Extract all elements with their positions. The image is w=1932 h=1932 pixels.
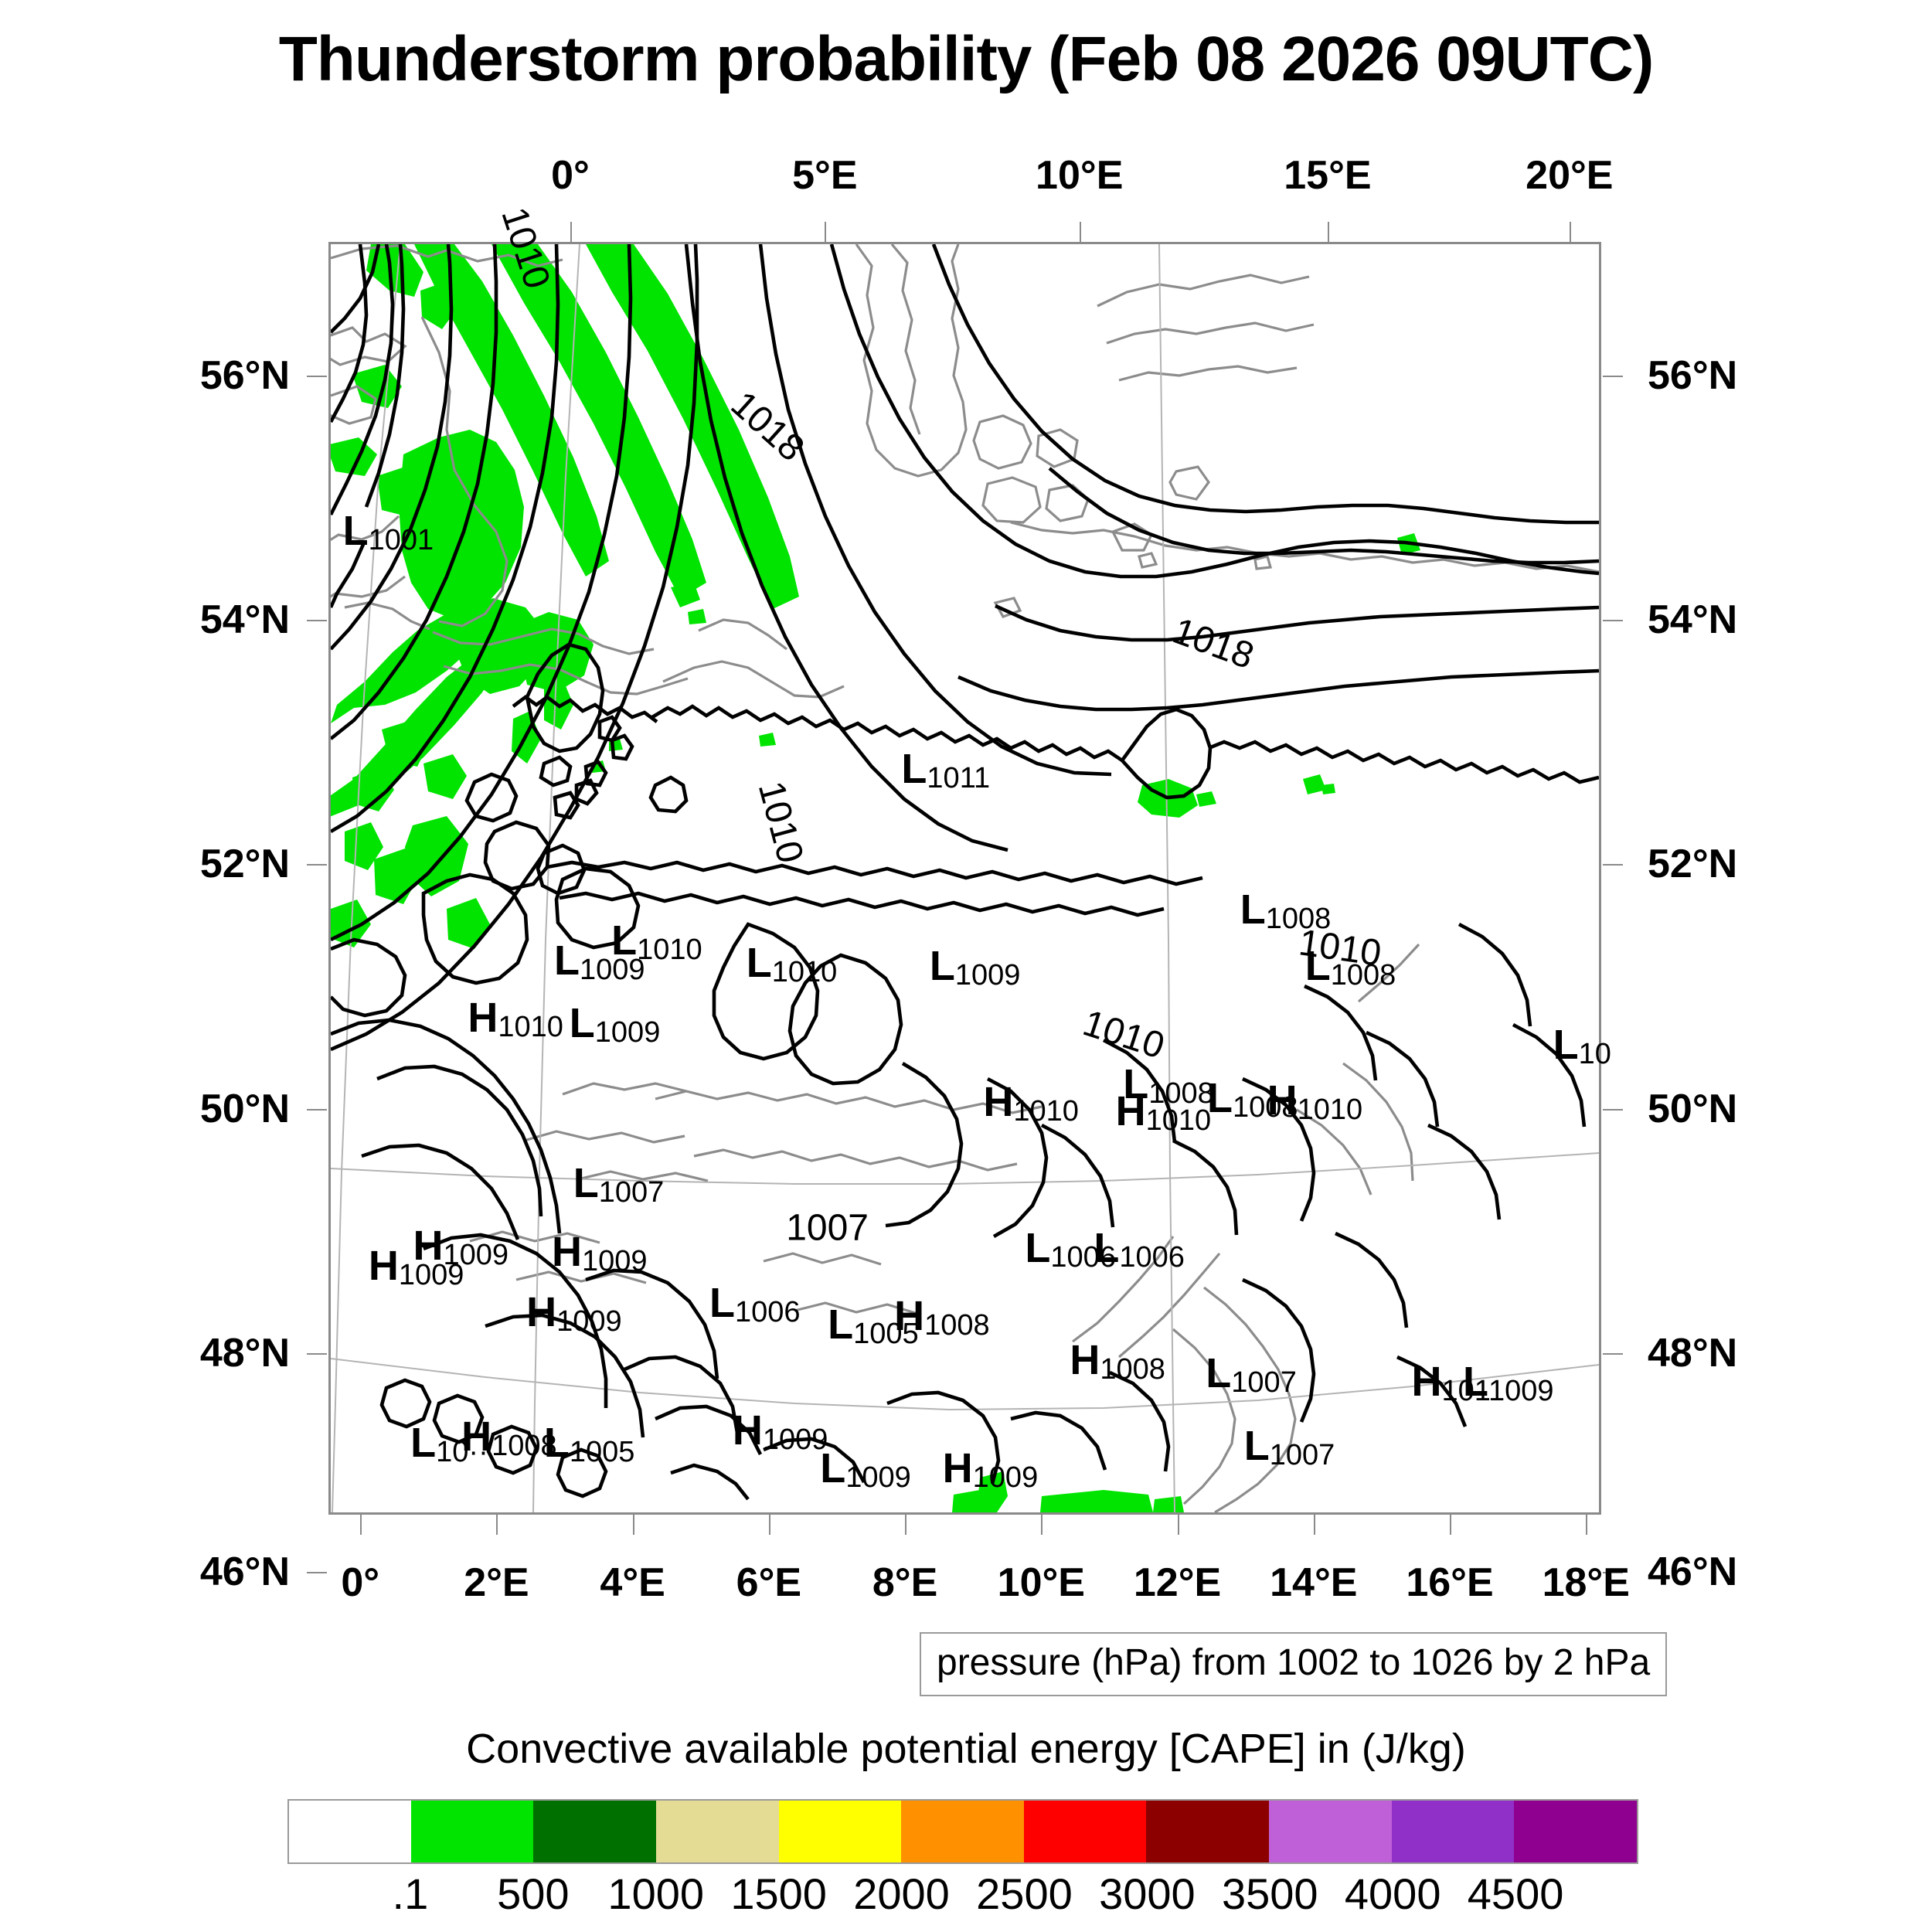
colorbar-cell-6[interactable] xyxy=(1024,1801,1147,1862)
axis-label-top-0: 0° xyxy=(551,152,590,199)
axis-label-bottom-9: 18°E xyxy=(1543,1560,1630,1606)
pressure-center-h-1008-25: H1008 xyxy=(894,1295,990,1340)
pressure-center-l-1009-29: L1009 xyxy=(1463,1361,1554,1406)
axis-label-right-0: 56°N xyxy=(1648,352,1737,399)
pressure-center-value: 1010 xyxy=(1013,1095,1079,1128)
pressure-center-l-1007-16: L1007 xyxy=(573,1162,665,1207)
pressure-center-value: 1007 xyxy=(1270,1439,1335,1471)
pressure-center-value: 10 xyxy=(1579,1038,1611,1070)
axis-label-right-2: 52°N xyxy=(1648,841,1737,887)
axis-label-bottom-4: 8°E xyxy=(872,1560,937,1606)
pressure-center-l-1009-34: L1009 xyxy=(820,1447,911,1492)
pressure-center-type: H xyxy=(943,1445,973,1492)
colorbar-tick-3500: 3500 xyxy=(1222,1869,1318,1919)
axis-label-bottom-2: 4°E xyxy=(600,1560,665,1606)
pressure-center-value: 1009 xyxy=(845,1461,911,1494)
pressure-center-h-1008-31: H1008 xyxy=(461,1416,557,1461)
page-title: Thunderstorm probability (Feb 08 2026 09… xyxy=(0,23,1932,96)
pressure-center-type: L xyxy=(820,1445,845,1492)
axis-tick xyxy=(1570,222,1571,242)
axis-tick xyxy=(307,1109,327,1111)
axis-label-top-1: 5°E xyxy=(792,152,857,199)
pressure-center-h-1009-33: H1009 xyxy=(733,1410,828,1454)
pressure-center-type: L xyxy=(343,508,369,554)
pressure-center-h-1009-19: H1009 xyxy=(552,1231,648,1276)
pressure-center-value: 1008 xyxy=(1100,1353,1165,1386)
pressure-center-type: L xyxy=(930,943,955,989)
pressure-center-type: L xyxy=(573,1160,599,1206)
colorbar-cell-7[interactable] xyxy=(1146,1801,1269,1862)
axis-tick xyxy=(1603,1109,1623,1111)
pressure-center-type: L xyxy=(828,1301,853,1348)
pressure-center-type: H xyxy=(461,1413,492,1460)
pressure-center-h-1009-18: H1009 xyxy=(369,1245,464,1290)
pressure-center-l-1007-27: L1007 xyxy=(1206,1352,1297,1397)
axis-tick xyxy=(360,1515,362,1535)
axis-label-top-4: 20°E xyxy=(1526,152,1613,199)
pressure-center-type: L xyxy=(1244,1423,1270,1469)
axis-label-top-3: 15°E xyxy=(1284,152,1371,199)
pressure-center-h-1010-12: H1010 xyxy=(983,1081,1079,1126)
pressure-center-l-1010-5: L1010 xyxy=(611,920,702,964)
pressure-center-type: L xyxy=(1240,886,1266,933)
pressure-center-value: 1009 xyxy=(595,1016,661,1049)
pressure-center-value: 1009 xyxy=(973,1461,1039,1494)
axis-label-left-3: 50°N xyxy=(97,1086,290,1132)
pressure-center-value: 1010 xyxy=(498,1011,563,1043)
pressure-center-l-1006-23: L1006 xyxy=(709,1282,801,1327)
pressure-center-type: H xyxy=(733,1407,763,1454)
pressure-center-value: 1007 xyxy=(599,1176,665,1209)
contour-label-1007-6: 1007 xyxy=(786,1207,869,1250)
pressure-center-value: 1001 xyxy=(369,524,434,556)
colorbar-cell-5[interactable] xyxy=(901,1801,1024,1862)
pressure-center-type: L xyxy=(1305,943,1331,989)
pressure-center-type: H xyxy=(552,1229,582,1275)
axis-tick xyxy=(496,1515,498,1535)
pressure-center-h-1010-13: H1010 xyxy=(1116,1090,1212,1135)
pressure-center-type: L xyxy=(410,1420,436,1466)
pressure-center-h-1010-14: H1010 xyxy=(1267,1080,1363,1124)
axis-tick xyxy=(307,620,327,621)
colorbar-tick-2500: 2500 xyxy=(976,1869,1073,1919)
pressure-center-value: 1009 xyxy=(556,1305,622,1338)
axis-label-left-4: 48°N xyxy=(97,1330,290,1376)
colorbar-tick-labels: .150010001500200025003000350040004500 xyxy=(287,1869,1638,1930)
pressure-center-l-1007-36: L1007 xyxy=(1244,1425,1335,1470)
pressure-center-type: H xyxy=(526,1289,556,1335)
pressure-center-l-10-15: L10 xyxy=(1553,1024,1611,1069)
pressure-center-type: L xyxy=(1206,1350,1231,1396)
axis-tick xyxy=(1603,1353,1623,1355)
axis-tick xyxy=(307,864,327,866)
pressure-center-h-1009-35: H1009 xyxy=(943,1447,1039,1492)
axis-label-left-2: 52°N xyxy=(97,841,290,887)
axis-label-top-2: 10°E xyxy=(1036,152,1123,199)
axis-tick xyxy=(1178,1515,1179,1535)
pressure-center-value: 1009 xyxy=(763,1423,828,1456)
pressure-center-value: 1009 xyxy=(955,959,1021,992)
pressure-center-type: L xyxy=(611,917,637,964)
axis-tick xyxy=(1586,1515,1587,1535)
axis-tick xyxy=(1603,864,1623,866)
pressure-center-type: L xyxy=(544,1420,570,1466)
axis-tick xyxy=(570,222,572,242)
colorbar-tick-4000: 4000 xyxy=(1345,1869,1441,1919)
pressure-center-value: 1009 xyxy=(399,1259,464,1291)
colorbar-tick-1500: 1500 xyxy=(730,1869,827,1919)
pressure-center-type: L xyxy=(1553,1022,1579,1068)
pressure-center-type: H xyxy=(894,1293,924,1339)
pressure-center-value: 1006 xyxy=(1119,1241,1185,1274)
axis-tick xyxy=(905,1515,906,1535)
axis-tick xyxy=(1041,1515,1043,1535)
pressure-center-h-1009-22: H1009 xyxy=(526,1291,622,1336)
pressure-center-value: 1011 xyxy=(927,762,990,794)
colorbar-cell-1[interactable] xyxy=(411,1801,534,1862)
axis-tick xyxy=(825,222,826,242)
colorbar-tick-.1: .1 xyxy=(393,1869,429,1919)
pressure-center-type: L xyxy=(554,937,580,984)
axis-label-left-5: 46°N xyxy=(97,1549,290,1595)
colorbar-tick-4500: 4500 xyxy=(1468,1869,1564,1919)
pressure-center-l-1005-32: L1005 xyxy=(544,1422,635,1467)
pressure-center-value: 1010 xyxy=(772,956,838,988)
colorbar-cell-4[interactable] xyxy=(779,1801,902,1862)
axis-label-right-3: 50°N xyxy=(1648,1086,1737,1132)
axis-label-bottom-5: 10°E xyxy=(998,1560,1085,1606)
pressure-center-value: 1010 xyxy=(1146,1104,1212,1137)
axis-tick xyxy=(1080,222,1081,242)
axis-label-bottom-3: 6°E xyxy=(736,1560,801,1606)
axis-label-bottom-8: 16°E xyxy=(1406,1560,1493,1606)
pressure-center-h-1010-8: H1010 xyxy=(468,997,563,1042)
pressure-center-value: 1010 xyxy=(637,934,702,966)
colorbar-cell-10[interactable] xyxy=(1514,1801,1637,1862)
pressure-center-type: H xyxy=(1070,1337,1100,1383)
pressure-center-value: 1009 xyxy=(582,1245,648,1277)
axis-tick xyxy=(307,1353,327,1355)
axis-label-right-5: 46°N xyxy=(1648,1549,1737,1595)
pressure-center-h-1008-26: H1008 xyxy=(1070,1339,1165,1384)
colorbar-cell-0[interactable] xyxy=(289,1801,411,1862)
pressure-legend-box: pressure (hPa) from 1002 to 1026 by 2 hP… xyxy=(920,1632,1667,1696)
axis-tick xyxy=(307,376,327,377)
pressure-center-type: H xyxy=(369,1243,399,1289)
pressure-center-type: L xyxy=(1463,1359,1488,1405)
axis-label-left-1: 54°N xyxy=(97,597,290,643)
cape-colorbar[interactable] xyxy=(287,1799,1638,1864)
colorbar-caption: Convective available potential energy [C… xyxy=(0,1725,1932,1773)
axis-tick xyxy=(1450,1515,1451,1535)
axis-label-bottom-7: 14°E xyxy=(1270,1560,1357,1606)
pressure-center-type: L xyxy=(709,1280,735,1326)
pressure-center-value: 1007 xyxy=(1231,1366,1297,1399)
axis-tick xyxy=(1314,1515,1315,1535)
pressure-center-type: H xyxy=(983,1079,1013,1125)
axis-label-right-4: 48°N xyxy=(1648,1330,1737,1376)
pressure-center-type: L xyxy=(570,1000,595,1046)
axis-label-left-0: 56°N xyxy=(97,352,290,399)
colorbar-cell-2[interactable] xyxy=(533,1801,656,1862)
pressure-center-type: L xyxy=(747,940,772,986)
axis-tick xyxy=(633,1515,634,1535)
axis-tick xyxy=(1328,222,1329,242)
axis-label-bottom-1: 2°E xyxy=(464,1560,529,1606)
axis-tick xyxy=(307,1572,327,1573)
pressure-center-type: H xyxy=(1116,1088,1146,1134)
colorbar-tick-500: 500 xyxy=(497,1869,569,1919)
pressure-center-l-1008-2: L1008 xyxy=(1240,889,1332,934)
pressure-center-type: L xyxy=(1025,1225,1050,1271)
axis-tick xyxy=(769,1515,770,1535)
axis-label-bottom-0: 0° xyxy=(341,1560,379,1606)
pressure-center-value: 1008 xyxy=(1266,903,1332,935)
pressure-center-type: L xyxy=(901,746,927,792)
colorbar-tick-3000: 3000 xyxy=(1099,1869,1196,1919)
axis-label-bottom-6: 12°E xyxy=(1134,1560,1221,1606)
pressure-center-type: L xyxy=(1094,1225,1119,1271)
pressure-center-value: 1008 xyxy=(924,1309,990,1342)
axis-label-right-1: 54°N xyxy=(1648,597,1737,643)
axis-tick xyxy=(1603,376,1623,377)
colorbar-tick-2000: 2000 xyxy=(853,1869,950,1919)
colorbar-cell-3[interactable] xyxy=(656,1801,779,1862)
pressure-center-value: 1006 xyxy=(735,1296,801,1328)
colorbar-tick-1000: 1000 xyxy=(607,1869,704,1919)
pressure-center-value: 1009 xyxy=(1488,1375,1554,1407)
pressure-center-l-1009-7: L1009 xyxy=(930,945,1021,990)
colorbar-cell-9[interactable] xyxy=(1392,1801,1515,1862)
pressure-center-value: 1005 xyxy=(570,1436,635,1468)
pressure-center-l-1011-1: L1011 xyxy=(901,748,990,793)
pressure-center-l-1006-21: L1006 xyxy=(1094,1227,1185,1272)
pressure-center-l-1010-6: L1010 xyxy=(747,942,838,987)
pressure-center-l-1009-9: L1009 xyxy=(570,1002,661,1047)
pressure-center-type: H xyxy=(468,995,498,1041)
pressure-center-l-1001-0: L1001 xyxy=(343,510,434,555)
colorbar-cell-8[interactable] xyxy=(1269,1801,1392,1862)
axis-tick xyxy=(1603,620,1623,621)
pressure-center-l-1008-3: L1008 xyxy=(1305,945,1396,990)
pressure-center-type: H xyxy=(1411,1359,1441,1405)
pressure-center-value: 1008 xyxy=(1331,959,1396,992)
pressure-center-type: H xyxy=(1267,1077,1298,1124)
pressure-center-value: 1010 xyxy=(1298,1094,1363,1126)
